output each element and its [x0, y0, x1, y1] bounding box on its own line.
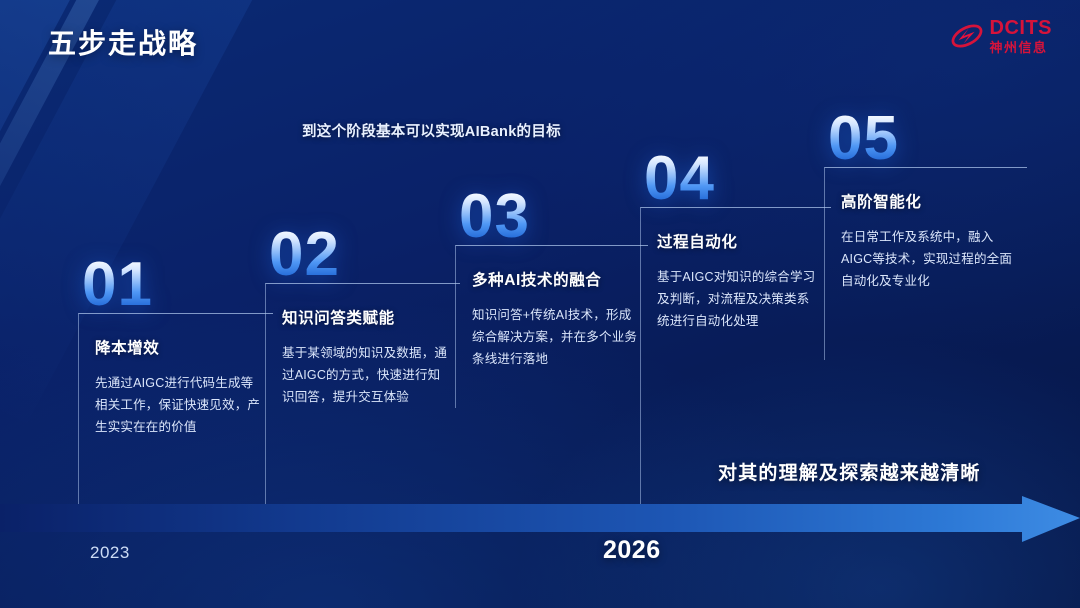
step-number: 04 [644, 152, 831, 207]
slide-root: 五步走战略 DCITS 神州信息 到这个阶段基本可以实现AIBank的目标 01… [0, 0, 1080, 608]
step-title: 降本增效 [95, 336, 263, 358]
step-card-03[interactable]: 03 多种AI技术的融合 知识问答+传统AI技术，形成综合解决方案，并在多个业务… [455, 190, 648, 408]
step-body: 知识问答类赋能 基于某领域的知识及数据，通过AIGC的方式，快速进行知识回答，提… [265, 283, 460, 506]
step-description: 基于AIGC对知识的综合学习及判断，对流程及决策类系统进行自动化处理 [657, 266, 821, 333]
step-title: 高阶智能化 [841, 190, 1017, 212]
step-number: 02 [269, 228, 460, 283]
company-logo: DCITS 神州信息 [950, 18, 1053, 54]
step-number: 03 [459, 190, 648, 245]
right-arrow-icon [0, 496, 1080, 544]
step-title: 过程自动化 [657, 230, 821, 252]
step-card-05[interactable]: 05 高阶智能化 在日常工作及系统中，融入AIGC等技术，实现过程的全面自动化及… [824, 112, 1027, 360]
step-number: 05 [828, 112, 1027, 167]
logo-text: DCITS 神州信息 [990, 18, 1053, 54]
step-description: 基于某领域的知识及数据，通过AIGC的方式，快速进行知识回答，提升交互体验 [282, 342, 450, 409]
step-title: 多种AI技术的融合 [472, 268, 638, 290]
logo-cn-label: 神州信息 [990, 41, 1053, 54]
timeline-year-end: 2026 [603, 536, 661, 565]
step-body: 多种AI技术的融合 知识问答+传统AI技术，形成综合解决方案，并在多个业务条线进… [455, 245, 648, 408]
step-description: 先通过AIGC进行代码生成等相关工作，保证快速见效，产生实实在在的价值 [95, 372, 263, 439]
swirl-logo-icon [950, 19, 984, 53]
step-number: 01 [82, 258, 273, 313]
step-description: 在日常工作及系统中，融入AIGC等技术，实现过程的全面自动化及专业化 [841, 226, 1017, 293]
step-card-02[interactable]: 02 知识问答类赋能 基于某领域的知识及数据，通过AIGC的方式，快速进行知识回… [265, 228, 460, 506]
callout-text: 到这个阶段基本可以实现AIBank的目标 [302, 120, 561, 141]
step-card-01[interactable]: 01 降本增效 先通过AIGC进行代码生成等相关工作，保证快速见效，产生实实在在… [78, 258, 273, 506]
page-title: 五步走战略 [48, 22, 198, 62]
stripe-1 [0, 0, 31, 395]
step-body: 高阶智能化 在日常工作及系统中，融入AIGC等技术，实现过程的全面自动化及专业化 [824, 167, 1027, 360]
step-body: 降本增效 先通过AIGC进行代码生成等相关工作，保证快速见效，产生实实在在的价值 [78, 313, 273, 506]
step-description: 知识问答+传统AI技术，形成综合解决方案，并在多个业务条线进行落地 [472, 304, 638, 371]
timeline-tagline: 对其的理解及探索越来越清晰 [718, 458, 981, 485]
logo-en-label: DCITS [990, 18, 1053, 38]
step-title: 知识问答类赋能 [282, 306, 450, 328]
timeline-year-start: 2023 [90, 543, 130, 563]
